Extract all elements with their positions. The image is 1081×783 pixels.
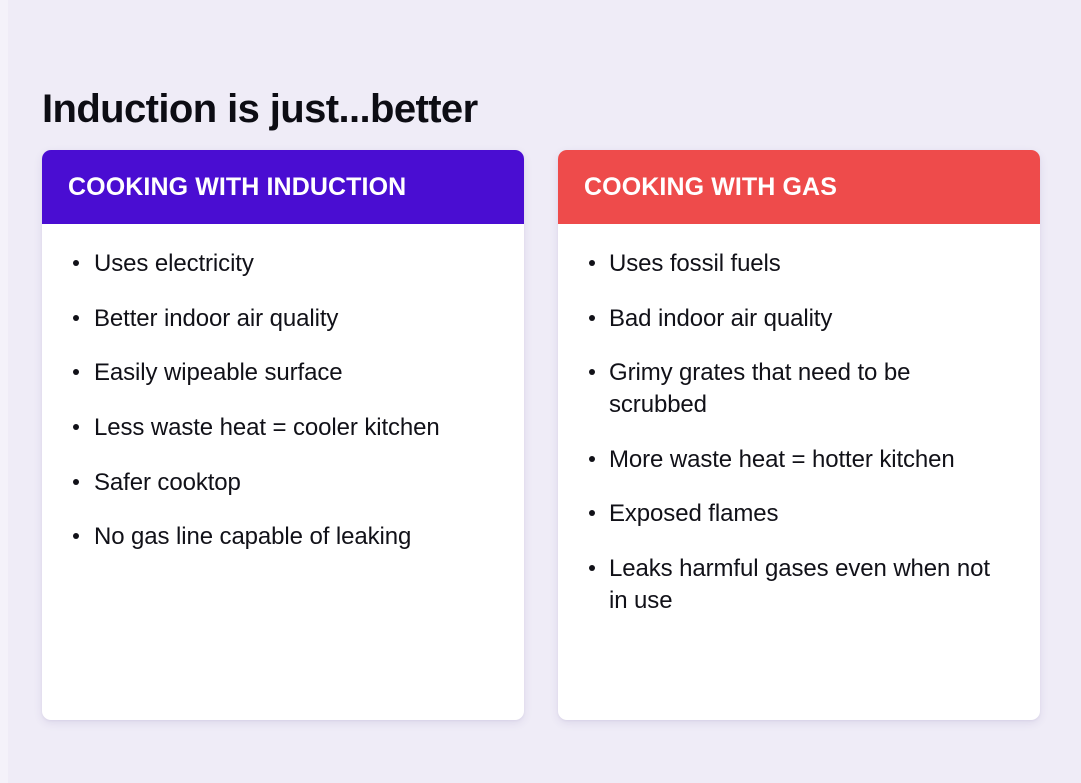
list-item-label: Exposed flames [609, 500, 778, 527]
card-cooking-with-gas: COOKING WITH GAS Uses fossil fuels Bad i… [558, 150, 1040, 720]
list-item: Safer cooktop [68, 467, 498, 499]
card-cooking-with-induction: COOKING WITH INDUCTION Uses electricity … [42, 150, 524, 720]
list-item: No gas line capable of leaking [68, 521, 498, 553]
list-item-label: Safer cooktop [94, 469, 241, 496]
page-title: Induction is just...better [42, 85, 478, 133]
comparison-cards: COOKING WITH INDUCTION Uses electricity … [42, 150, 1040, 720]
list-item: Grimy grates that need to be scrubbed [584, 357, 1014, 420]
list-item-label: Leaks harmful gases even when not in use [609, 555, 990, 614]
bullet-dot-icon [73, 479, 79, 485]
list-item-label: No gas line capable of leaking [94, 523, 411, 550]
bullet-dot-icon [589, 315, 595, 321]
list-item: Exposed flames [584, 498, 1014, 530]
list-item-label: Grimy grates that need to be scrubbed [609, 359, 910, 418]
list-item-label: Easily wipeable surface [94, 359, 343, 386]
bullet-dot-icon [589, 456, 595, 462]
list-item-label: Better indoor air quality [94, 305, 338, 332]
list-item-label: Uses electricity [94, 250, 254, 277]
page-left-edge [0, 0, 8, 783]
list-item: More waste heat = hotter kitchen [584, 444, 1014, 476]
card-body-induction: Uses electricity Better indoor air quali… [42, 224, 524, 720]
list-item-label: Uses fossil fuels [609, 250, 781, 277]
list-item: Better indoor air quality [68, 303, 498, 335]
bullet-dot-icon [73, 533, 79, 539]
list-item-label: Less waste heat = cooler kitchen [94, 414, 440, 441]
list-item-label: Bad indoor air quality [609, 305, 832, 332]
bullet-dot-icon [589, 260, 595, 266]
list-item-label: More waste heat = hotter kitchen [609, 446, 955, 473]
bullet-dot-icon [589, 565, 595, 571]
bullet-dot-icon [73, 369, 79, 375]
card-header-gas: COOKING WITH GAS [558, 150, 1040, 224]
bullet-dot-icon [73, 315, 79, 321]
induction-bullet-list: Uses electricity Better indoor air quali… [68, 248, 498, 553]
list-item: Bad indoor air quality [584, 303, 1014, 335]
bullet-dot-icon [73, 260, 79, 266]
bullet-dot-icon [589, 510, 595, 516]
card-header-title-induction: COOKING WITH INDUCTION [68, 175, 406, 200]
list-item: Uses electricity [68, 248, 498, 280]
list-item: Leaks harmful gases even when not in use [584, 553, 1014, 616]
card-body-gas: Uses fossil fuels Bad indoor air quality… [558, 224, 1040, 720]
bullet-dot-icon [589, 369, 595, 375]
list-item: Uses fossil fuels [584, 248, 1014, 280]
gas-bullet-list: Uses fossil fuels Bad indoor air quality… [584, 248, 1014, 616]
card-header-title-gas: COOKING WITH GAS [584, 175, 837, 200]
bullet-dot-icon [73, 424, 79, 430]
card-header-induction: COOKING WITH INDUCTION [42, 150, 524, 224]
list-item: Easily wipeable surface [68, 357, 498, 389]
list-item: Less waste heat = cooler kitchen [68, 412, 498, 444]
